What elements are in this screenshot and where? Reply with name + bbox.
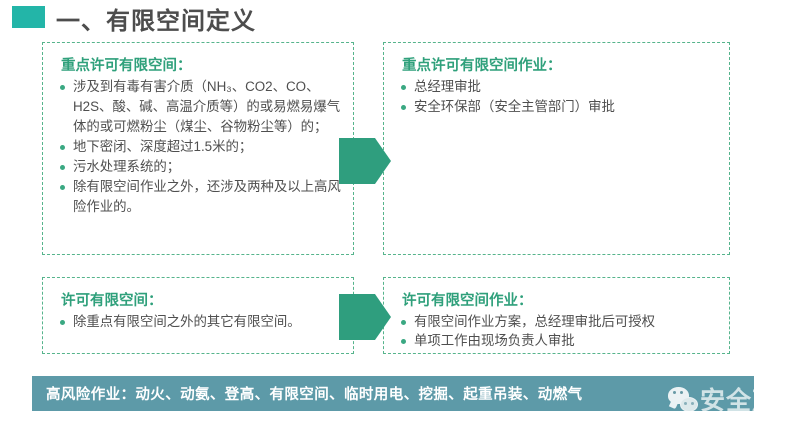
list-permit-confined-space: 除重点有限空间之外的其它有限空间。 <box>57 312 345 332</box>
high-risk-work-banner-text: 高风险作业：动火、动氨、登高、有限空间、临时用电、挖掘、起重吊装、动燃气 <box>32 383 582 404</box>
list-item: 除重点有限空间之外的其它有限空间。 <box>57 312 345 332</box>
list-item: 单项工作由现场负责人审批 <box>398 331 721 350</box>
arrow-body <box>339 138 375 184</box>
page-header: 一、有限空间定义 <box>0 0 786 34</box>
card-title-key-confined-space-work: 重点许可有限空间作业： <box>402 54 562 75</box>
list-item: 安全环保部（安全主管部门）审批 <box>398 97 721 117</box>
arrow-right-icon <box>339 294 391 340</box>
list-item: 总经理审批 <box>398 77 721 97</box>
card-title-permit-confined-space-work: 许可有限空间作业： <box>402 289 533 310</box>
header-marker-square <box>12 6 45 28</box>
list-item: 有限空间作业方案，总经理审批后可授权 <box>398 312 721 331</box>
list-permit-confined-space-work: 有限空间作业方案，总经理审批后可授权 单项工作由现场负责人审批 <box>398 312 721 350</box>
list-key-confined-space: 涉及到有毒有害介质（NH₃、CO2、CO、H2S、酸、碱、高温介质等）的或易燃易… <box>57 77 345 217</box>
card-key-confined-space-work: 重点许可有限空间作业： 总经理审批 安全环保部（安全主管部门）审批 <box>383 42 730 255</box>
card-permit-confined-space: 许可有限空间： 除重点有限空间之外的其它有限空间。 <box>42 277 354 354</box>
page-title: 一、有限空间定义 <box>56 1 256 36</box>
arrow-right-icon <box>339 138 391 184</box>
list-item: 污水处理系统的； <box>57 157 345 177</box>
high-risk-work-banner: 高风险作业：动火、动氨、登高、有限空间、临时用电、挖掘、起重吊装、动燃气 <box>32 376 754 411</box>
arrow-head <box>375 294 391 340</box>
card-title-permit-confined-space: 许可有限空间： <box>61 289 163 310</box>
arrow-body <box>339 294 375 340</box>
card-title-key-confined-space: 重点许可有限空间： <box>61 54 192 75</box>
list-key-confined-space-work: 总经理审批 安全环保部（安全主管部门）审批 <box>398 77 721 117</box>
list-item: 涉及到有毒有害介质（NH₃、CO2、CO、H2S、酸、碱、高温介质等）的或易燃易… <box>57 77 345 137</box>
card-permit-confined-space-work: 许可有限空间作业： 有限空间作业方案，总经理审批后可授权 单项工作由现场负责人审… <box>383 277 730 354</box>
list-item: 除有限空间作业之外，还涉及两种及以上高风险作业的。 <box>57 177 345 217</box>
card-key-confined-space: 重点许可有限空间： 涉及到有毒有害介质（NH₃、CO2、CO、H2S、酸、碱、高… <box>42 42 354 255</box>
list-item: 地下密闭、深度超过1.5米的； <box>57 137 345 157</box>
arrow-head <box>375 138 391 184</box>
